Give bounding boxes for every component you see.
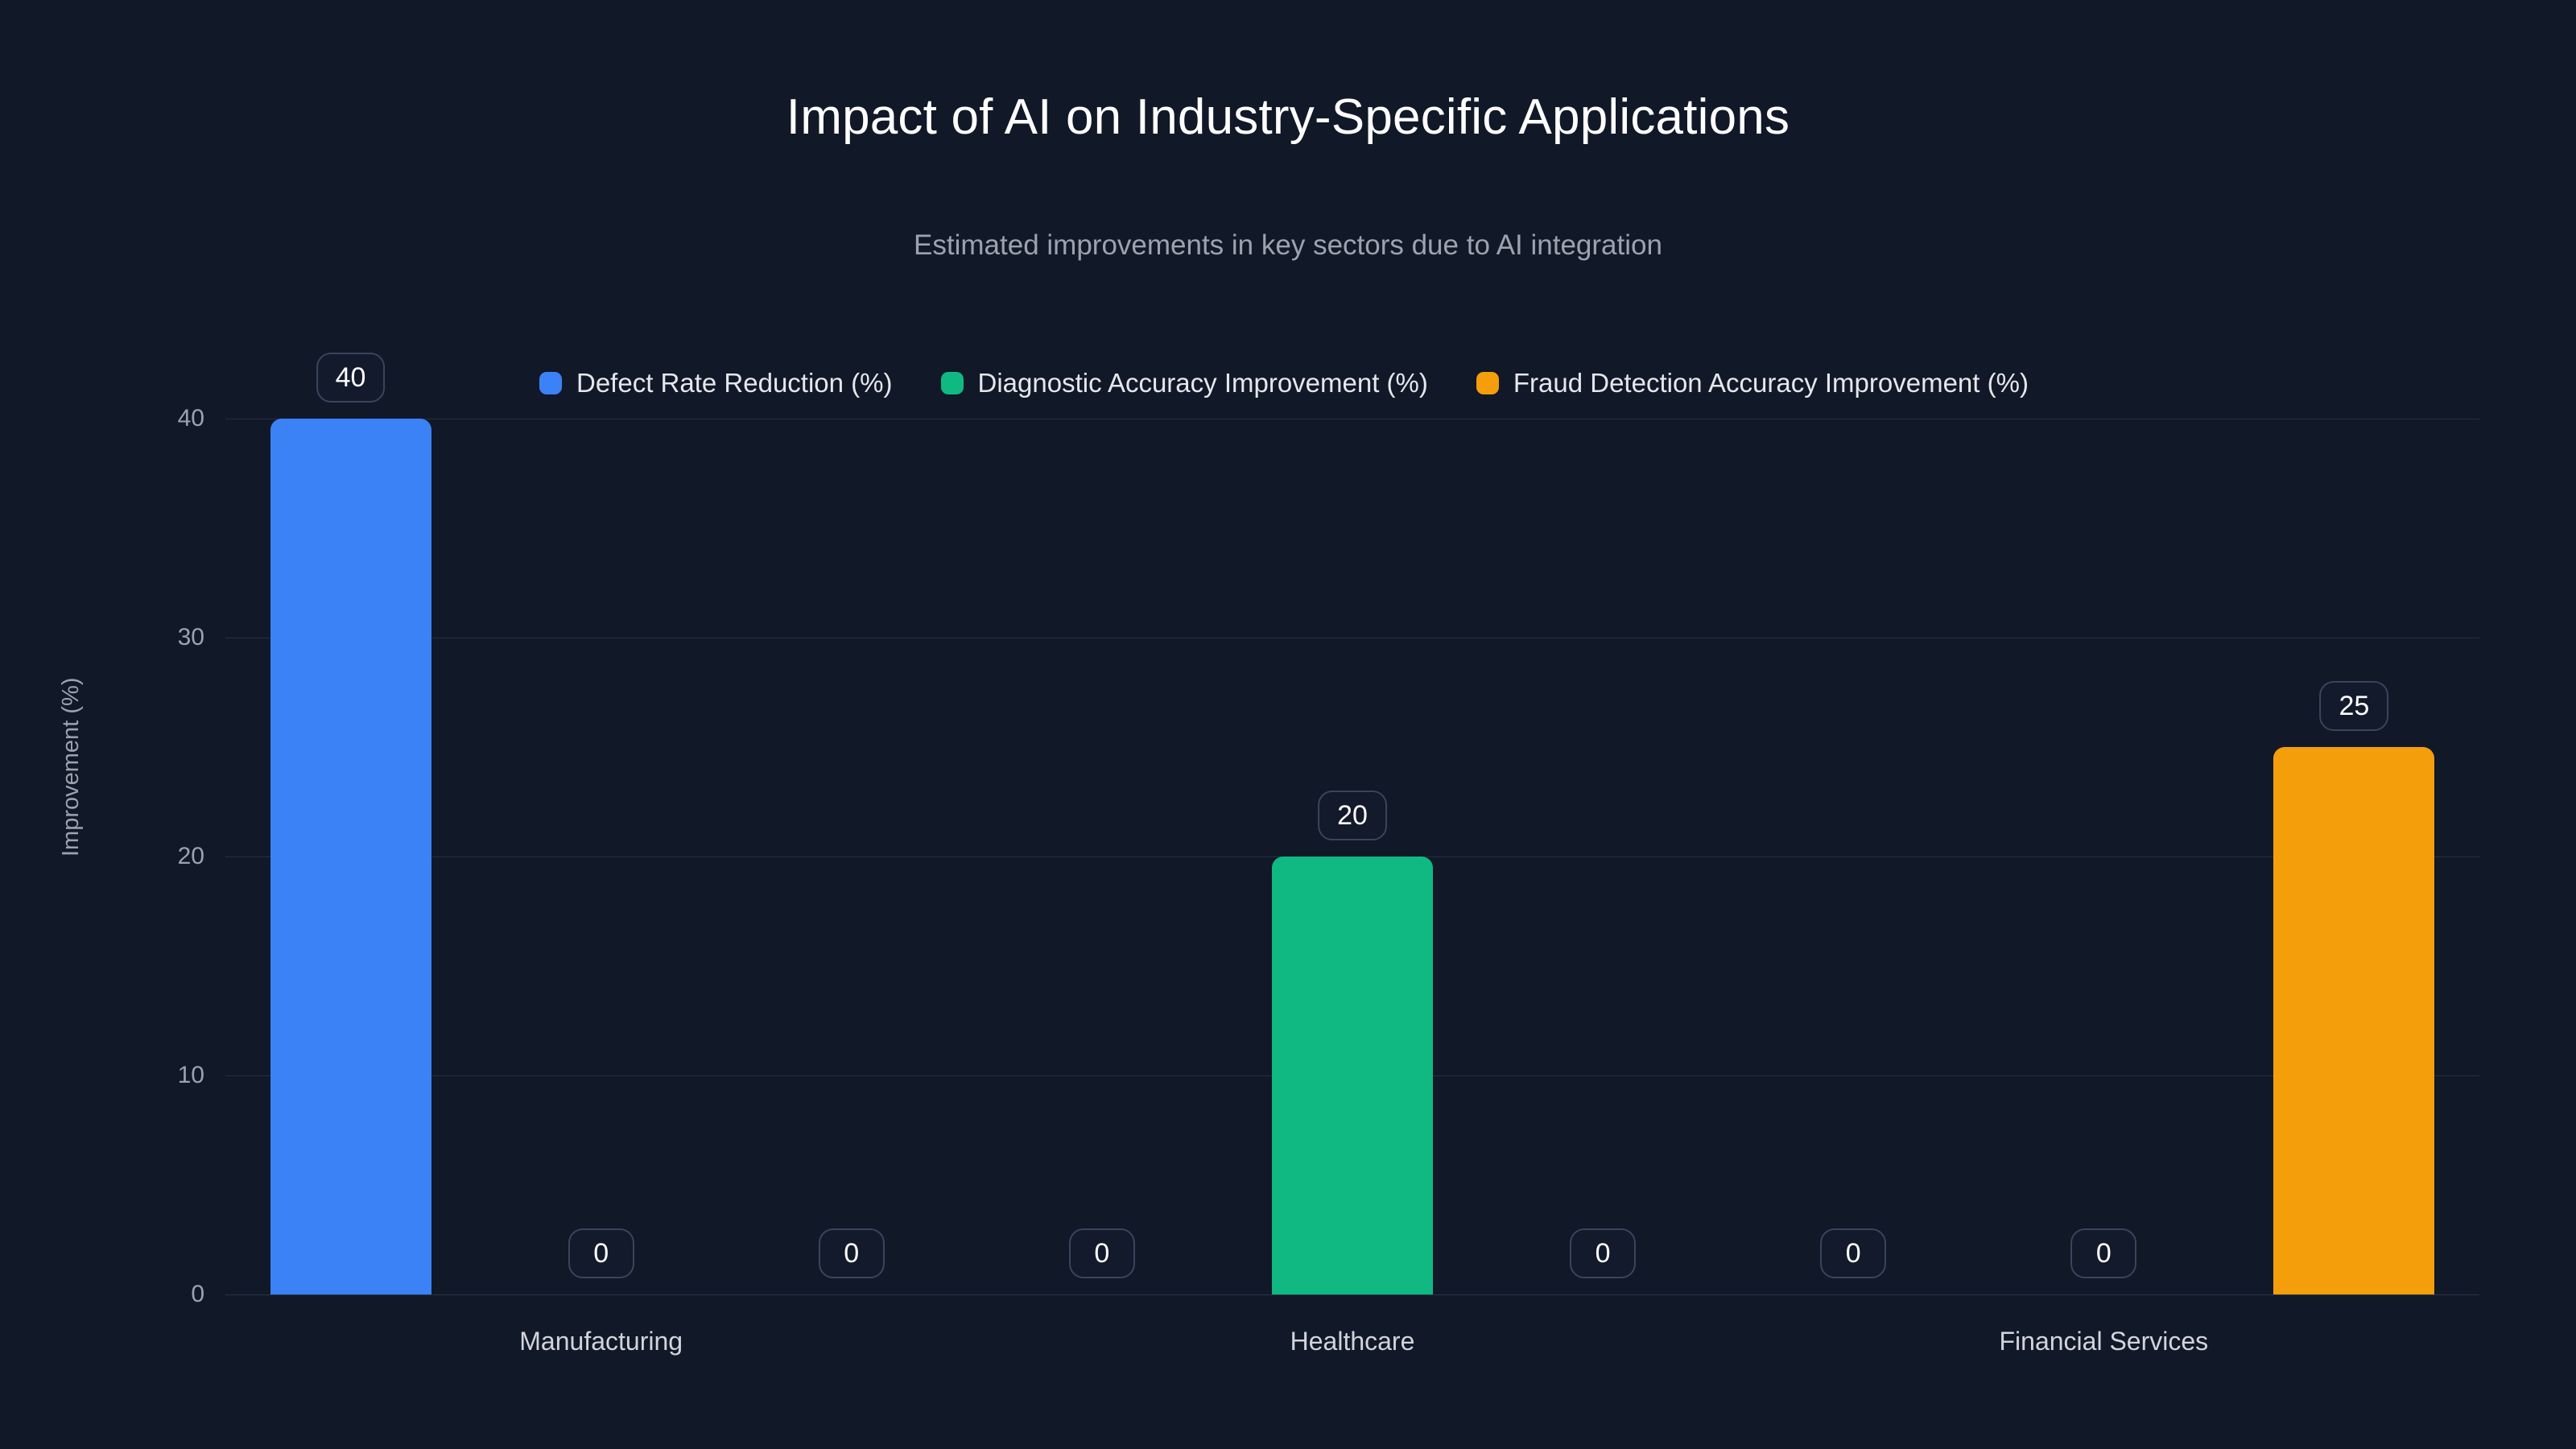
bar-value-badge: 0 (2070, 1228, 2136, 1278)
bar-value-badge: 0 (819, 1228, 885, 1278)
chart-canvas: Impact of AI on Industry-Specific Applic… (0, 0, 2576, 1449)
legend-swatch-icon (1476, 372, 1499, 394)
y-axis-tick-label: 40 (156, 405, 204, 432)
bar-value-badge: 0 (1570, 1228, 1636, 1278)
gridline (225, 1294, 2479, 1295)
legend-item[interactable]: Diagnostic Accuracy Improvement (%) (941, 368, 1428, 398)
y-axis-tick-label: 20 (156, 843, 204, 870)
bar-value-badge: 25 (2320, 681, 2389, 731)
bar-value-badge: 0 (1069, 1228, 1135, 1278)
gridline (225, 419, 2479, 419)
legend-label: Defect Rate Reduction (%) (576, 368, 893, 398)
chart-subtitle: Estimated improvements in key sectors du… (0, 229, 2576, 262)
y-axis-tick-label: 30 (156, 624, 204, 651)
legend-item[interactable]: Defect Rate Reduction (%) (539, 368, 893, 398)
y-axis-label: Improvement (%) (58, 678, 85, 857)
bar-value-badge: 0 (568, 1228, 634, 1278)
legend-label: Diagnostic Accuracy Improvement (%) (978, 368, 1428, 398)
y-axis-tick-label: 0 (156, 1281, 204, 1308)
plot-area (225, 419, 2479, 1294)
chart-legend: Defect Rate Reduction (%)Diagnostic Accu… (539, 368, 2029, 398)
bar-value-badge: 0 (1820, 1228, 1886, 1278)
bar[interactable] (2273, 747, 2434, 1294)
legend-item[interactable]: Fraud Detection Accuracy Improvement (%) (1476, 368, 2029, 398)
legend-label: Fraud Detection Accuracy Improvement (%) (1513, 368, 2029, 398)
bar-value-badge: 20 (1318, 791, 1387, 840)
chart-title: Impact of AI on Industry-Specific Applic… (0, 89, 2576, 146)
x-axis-category-label: Manufacturing (519, 1327, 683, 1356)
x-axis-category-label: Financial Services (2000, 1327, 2209, 1356)
legend-swatch-icon (941, 372, 964, 394)
legend-swatch-icon (539, 372, 562, 394)
x-axis-category-label: Healthcare (1290, 1327, 1415, 1356)
bar[interactable] (270, 419, 431, 1294)
bar-value-badge: 40 (316, 353, 386, 402)
bar[interactable] (1272, 857, 1433, 1294)
y-axis-tick-label: 10 (156, 1062, 204, 1089)
gridline (225, 638, 2479, 638)
